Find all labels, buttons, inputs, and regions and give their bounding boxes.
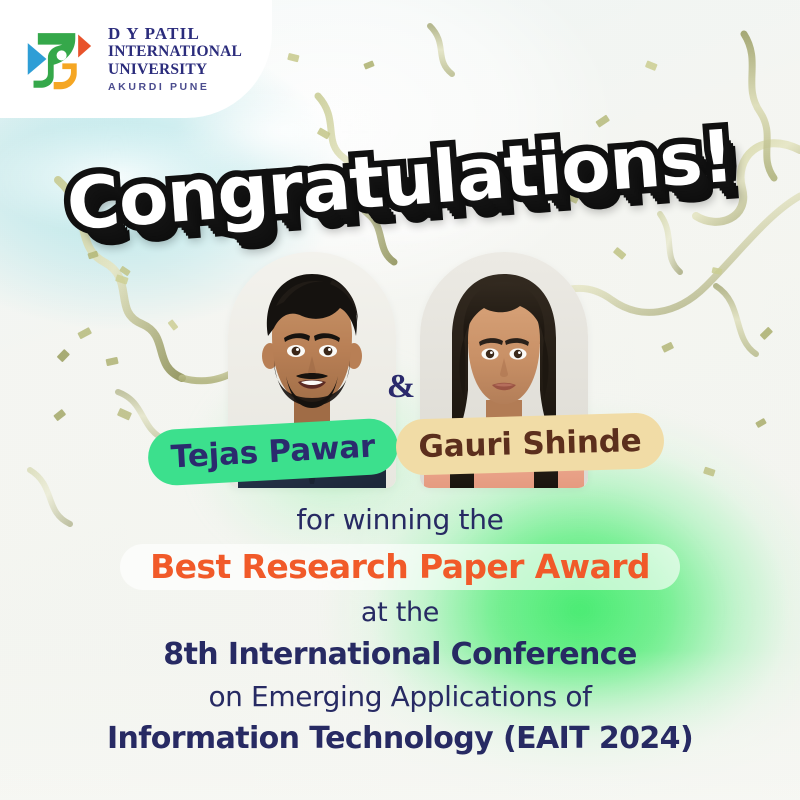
ampersand-separator: &	[386, 368, 416, 406]
line-at-the: at the	[0, 592, 800, 634]
line-for-winning: for winning the	[0, 500, 800, 540]
citation-text-block: for winning the Best Research Paper Awar…	[0, 500, 800, 760]
line-conference-acronym: Information Technology (EAIT 2024)	[0, 718, 800, 760]
line-conference-name: 8th International Conference	[0, 634, 800, 676]
logo-line-3: UNIVERSITY	[108, 61, 242, 79]
university-logo: D Y PATIL INTERNATIONAL UNIVERSITY AKURD…	[22, 22, 242, 95]
line-conference-subtitle: on Emerging Applications of	[0, 676, 800, 718]
logo-line-4: AKURDI PUNE	[108, 79, 242, 95]
dypiu-logo-mark-icon	[22, 23, 94, 95]
logo-text-block: D Y PATIL INTERNATIONAL UNIVERSITY AKURD…	[108, 22, 242, 95]
award-title: Best Research Paper Award	[150, 547, 650, 586]
logo-line-1: D Y PATIL	[108, 24, 242, 43]
logo-line-2: INTERNATIONAL	[108, 43, 242, 61]
awardee-name-label-tejas: Tejas Pawar	[170, 429, 376, 476]
award-highlight-band: Best Research Paper Award	[120, 544, 680, 590]
awardee-name-pill-gauri: Gauri Shinde	[395, 412, 664, 475]
awardee-name-label-gauri: Gauri Shinde	[418, 423, 642, 465]
congratulations-poster: D Y PATIL INTERNATIONAL UNIVERSITY AKURD…	[0, 0, 800, 800]
